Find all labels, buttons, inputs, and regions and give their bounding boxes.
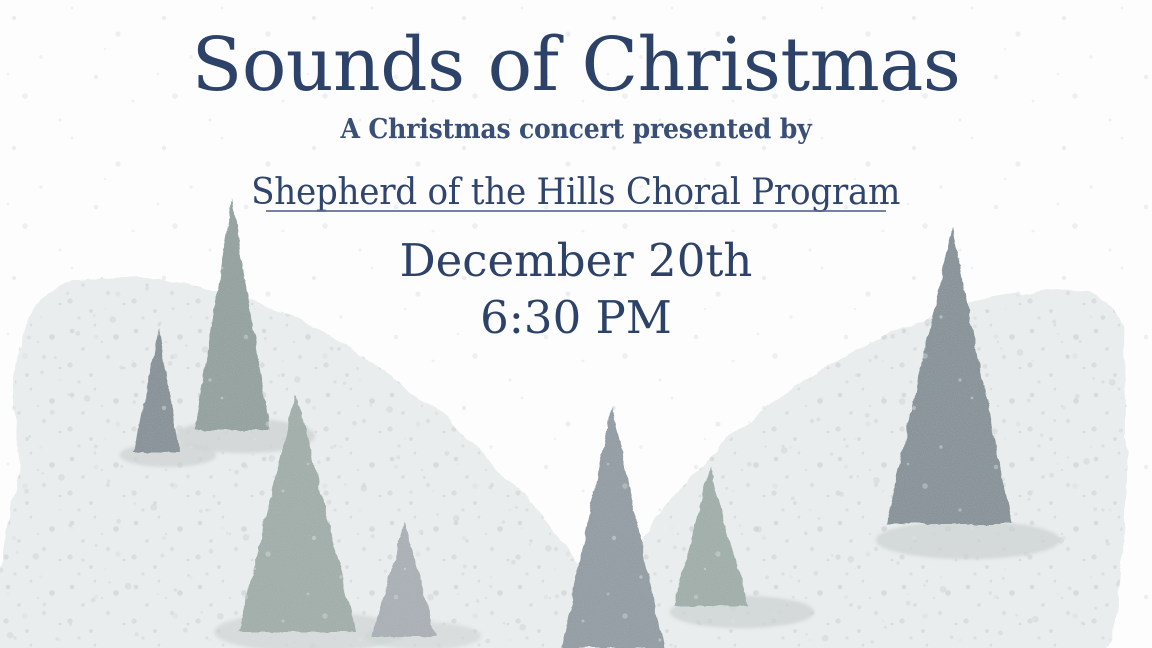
event-time: 6:30 PM xyxy=(0,295,1152,340)
christmas-concert-poster: Sounds of Christmas A Christmas concert … xyxy=(0,0,1152,648)
organization-underline xyxy=(266,210,886,212)
poster-text-block: Sounds of Christmas A Christmas concert … xyxy=(0,0,1152,648)
poster-subtitle: A Christmas concert presented by xyxy=(40,115,1111,145)
event-date: December 20th xyxy=(0,238,1152,283)
page-title: Sounds of Christmas xyxy=(0,28,1152,102)
